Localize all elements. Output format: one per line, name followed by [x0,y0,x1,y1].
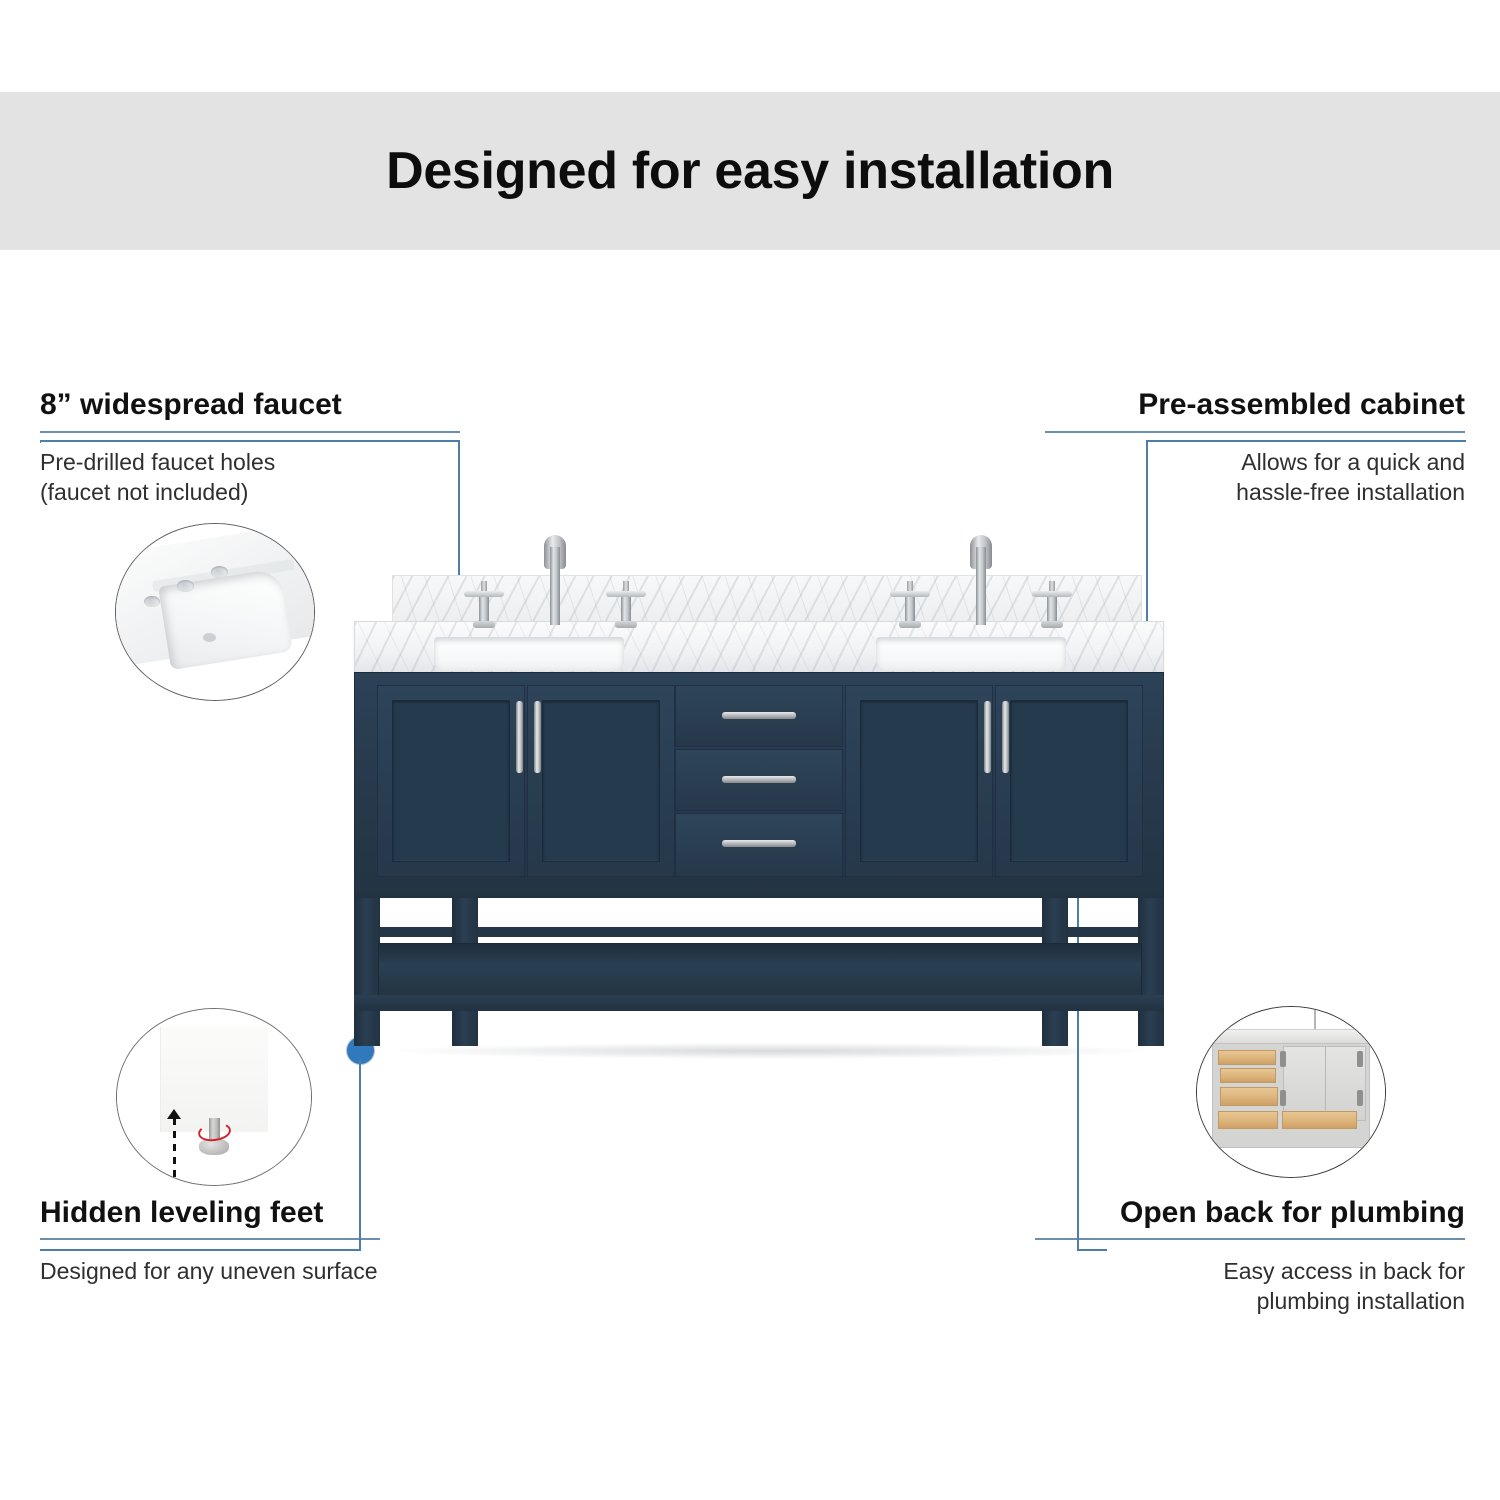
faucet-handle-left [884,577,936,625]
handle-base [473,621,495,628]
faucet-hole-1 [144,596,160,607]
connector-open-back-horizontal [1077,1249,1107,1251]
faucet-left [480,535,630,625]
connector-cabinet-horizontal [1146,440,1466,442]
callout-open-back-heading: Open back for plumbing [1035,1196,1465,1230]
handle-base [1041,621,1063,628]
faucet-handle-right [600,577,652,625]
callout-cabinet: Pre-assembled cabinet Allows for a quick… [1045,388,1465,508]
door-pull-2[interactable] [534,701,541,773]
faucet-spout-neck [976,547,986,625]
callout-leveling-feet-body: Designed for any uneven surface [40,1256,460,1287]
handle-cross [1032,591,1072,597]
faucet-holes-inset [115,523,315,701]
drawer-pull-3[interactable] [722,840,796,847]
floor-shadow [390,1043,1150,1059]
callout-cabinet-heading: Pre-assembled cabinet [1045,388,1465,422]
inset-hinge-1 [1280,1051,1286,1067]
inset-drawer-box-4 [1218,1111,1278,1130]
inset-drawer-box-1 [1218,1050,1276,1065]
faucet-right [906,535,1056,625]
height-adjust-arrow-icon [173,1118,176,1186]
header-banner: Designed for easy installation [0,92,1500,250]
drawer-pull-1[interactable] [722,712,796,719]
inset-drawer-box-3 [1220,1087,1278,1106]
inset-drawer-box-2 [1220,1068,1276,1083]
inset-drawer-box-5 [1282,1111,1357,1130]
inset-door-split [1325,1046,1326,1121]
page-title: Designed for easy installation [386,141,1114,201]
handle-cross [464,591,504,597]
handle-base [899,621,921,628]
connector-feet-drop [359,1060,361,1250]
faucet-handle-left [458,577,510,625]
cabinet-door-2[interactable] [527,685,675,877]
vanity-leg-front-left [354,898,380,1046]
door-pull-1[interactable] [516,701,523,773]
inset-hinge-4 [1357,1090,1363,1106]
cabinet-door-3[interactable] [845,685,993,877]
cabinet-body [354,672,1164,887]
callout-leveling-feet-rule [40,1238,380,1240]
connector-feet-horizontal [40,1249,361,1251]
handle-cross [890,591,930,597]
door-pull-3[interactable] [984,701,991,773]
faucet-handle-right [1026,577,1078,625]
drawer-pull-2[interactable] [722,776,796,783]
open-bottom-shelf [378,943,1142,1001]
callout-open-back-body: Easy access in back for plumbing install… [1035,1256,1465,1317]
cabinet-door-1[interactable] [377,685,525,877]
inset-hinge-2 [1280,1090,1286,1106]
foot-pad [199,1139,228,1155]
drawer-stack [675,685,843,877]
callout-faucet-body: Pre-drilled faucet holes (faucet not inc… [40,447,460,508]
drawer-3[interactable] [675,813,843,877]
connector-faucet-horizontal [40,440,460,442]
callout-cabinet-body: Allows for a quick and hassle-free insta… [1045,447,1465,508]
callout-leveling-feet-heading: Hidden leveling feet [40,1196,460,1230]
callout-faucet-rule [40,431,460,433]
cabinet-apron [354,884,1164,898]
undermount-sink-left [434,637,624,671]
inset-hinge-3 [1357,1051,1363,1067]
undermount-sink-right [876,637,1066,671]
door-pull-4[interactable] [1002,701,1009,773]
callout-faucet: 8” widespread faucet Pre-drilled faucet … [40,388,460,508]
handle-cross [606,591,646,597]
callout-leveling-feet: Hidden leveling feet Designed for any un… [40,1196,460,1286]
cabinet-door-4[interactable] [995,685,1143,877]
callout-faucet-heading: 8” widespread faucet [40,388,460,422]
open-back-illustration [1197,1007,1385,1177]
drawer-1[interactable] [675,685,843,747]
faucet-spout-neck [550,547,560,625]
handle-base [615,621,637,628]
callout-cabinet-rule [1045,431,1465,433]
leveling-foot-inset [116,1008,312,1186]
product-image-vanity [330,575,1185,1055]
callout-open-back: Open back for plumbing Easy access in ba… [1035,1196,1465,1317]
shelf-front-rail [354,995,1164,1011]
callout-open-back-rule [1035,1238,1465,1240]
sink-illustration [116,524,314,700]
leveling-foot-illustration [117,1009,311,1185]
drawer-2[interactable] [675,749,843,811]
open-back-inset [1196,1006,1386,1178]
